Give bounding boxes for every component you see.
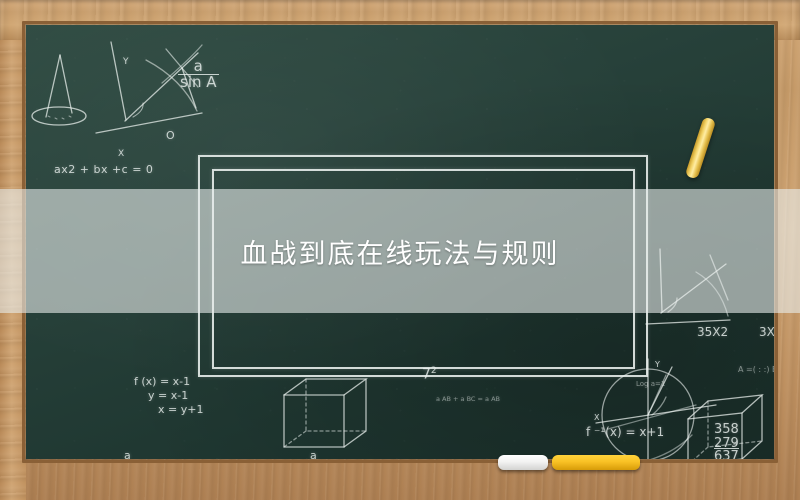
angle-axes-drawing bbox=[96, 42, 202, 133]
chalk-axis-y-label-right: Y bbox=[655, 360, 660, 369]
chalk-angle-o-label-topleft: O bbox=[166, 129, 175, 142]
chalkboard-banner: a sin A Y X O ax2 + bx +c = 0 35X2 3X2 Y… bbox=[0, 0, 800, 500]
chalk-function-stack: f (x) = x-1 y = x-1 x = y+1 bbox=[134, 375, 203, 416]
chalk-fraction-a-sinA-1: a sin A bbox=[112, 450, 143, 459]
chalk-label-3x2: 3X2 bbox=[759, 325, 774, 339]
chalk-quadratic-equation: ax2 + bx +c = 0 bbox=[54, 163, 153, 176]
cone-drawing bbox=[32, 55, 86, 125]
chalk-axis-x-label-right: X bbox=[594, 413, 599, 422]
chalk-axis-x-label-topleft: X bbox=[118, 149, 124, 159]
white-chalk-stick-on-tray bbox=[498, 455, 548, 470]
chalk-label-35x2: 35X2 bbox=[697, 325, 728, 339]
chalk-axis-y-label-topleft: Y bbox=[123, 57, 129, 67]
page-title: 血战到底在线玩法与规则 bbox=[241, 232, 560, 271]
chalk-addition-column: 358 279 637 bbox=[714, 423, 739, 459]
chalk-fraction-a-sinA-topleft: a sin A bbox=[178, 59, 219, 91]
yellow-chalk-stick-on-tray bbox=[552, 455, 640, 470]
chalk-inverse-function: f ⁻¹(x) = x+1 bbox=[586, 425, 664, 439]
yellow-chalk-stick-on-board bbox=[685, 117, 717, 180]
chalk-matrix-note: A =( : :) B =( : ) I =( : ) bbox=[738, 365, 774, 374]
cube-drawing-right bbox=[688, 395, 762, 459]
chalk-log-label: Log a=1 bbox=[636, 380, 665, 388]
title-overlay-band: 血战到底在线玩法与规则 bbox=[0, 189, 800, 313]
chalk-fraction-a-sinA-2: a sin A bbox=[298, 450, 329, 459]
chalk-small-note-ab-bc: a AB + a BC = a AB bbox=[436, 395, 500, 403]
cube-drawing-left bbox=[284, 379, 366, 447]
